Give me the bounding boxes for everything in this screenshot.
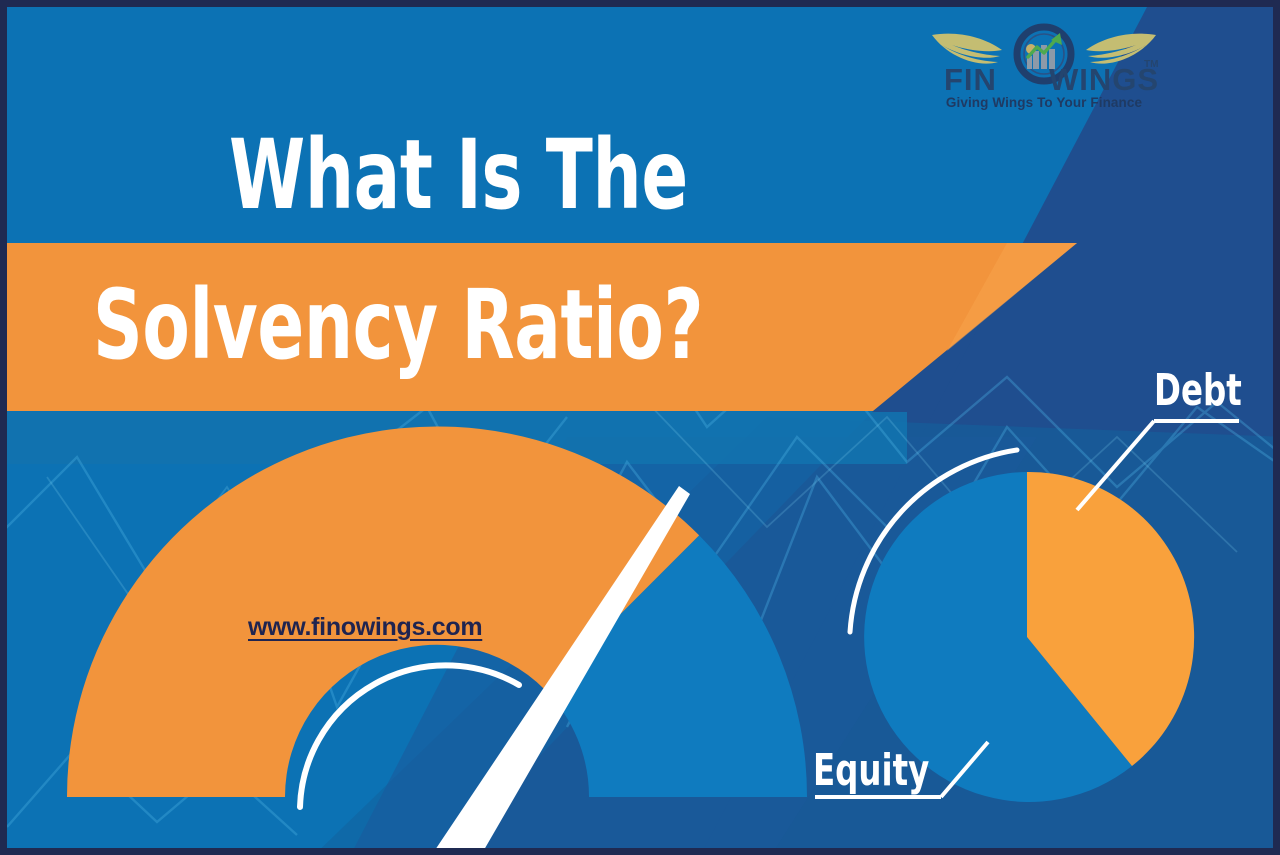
logo-word-fin: FIN (944, 62, 997, 98)
pie-label-debt: Debt (1154, 369, 1242, 413)
logo-trademark: TM (1144, 59, 1158, 70)
logo-tagline: Giving Wings To Your Finance (930, 95, 1158, 110)
foreground-graphics (7, 7, 1280, 855)
logo-word-wings: WINGS (1049, 62, 1159, 98)
poster-canvas: What Is The Solvency Ratio? www.finowing… (0, 0, 1280, 855)
watermark-url[interactable]: www.finowings.com (248, 613, 482, 642)
brand-logo[interactable]: FIN WINGS TM Giving Wings To Your Financ… (930, 23, 1158, 115)
logo-left-wing-icon (932, 34, 1002, 64)
pie-label-equity: Equity (813, 749, 929, 793)
